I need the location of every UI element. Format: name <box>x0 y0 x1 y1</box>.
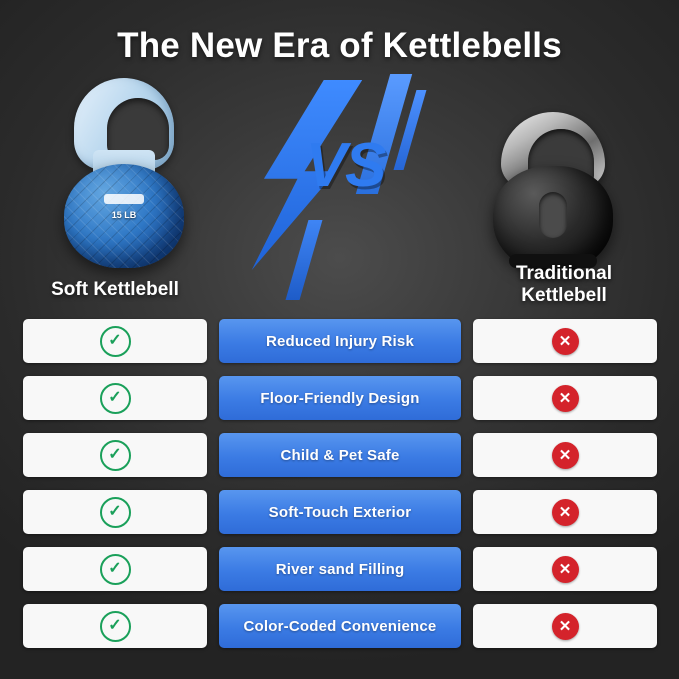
traditional-cell: ✕ <box>473 490 657 534</box>
cross-icon: ✕ <box>552 442 579 469</box>
table-row: ✓ River sand Filling ✕ <box>23 547 657 591</box>
traditional-kettlebell-image <box>493 112 613 272</box>
table-row: ✓ Child & Pet Safe ✕ <box>23 433 657 477</box>
right-column-caption-line1: Traditional <box>458 263 670 285</box>
feature-label: Child & Pet Safe <box>219 433 461 477</box>
check-icon: ✓ <box>100 383 131 414</box>
soft-kettlebell-image: 15 LB <box>60 78 190 268</box>
left-column-caption: Soft Kettlebell <box>9 279 221 301</box>
soft-cell: ✓ <box>23 319 207 363</box>
right-column-caption: Traditional Kettlebell <box>458 263 670 307</box>
traditional-cell: ✕ <box>473 604 657 648</box>
feature-label: River sand Filling <box>219 547 461 591</box>
check-icon: ✓ <box>100 554 131 585</box>
check-icon: ✓ <box>100 326 131 357</box>
soft-kettlebell-body: 15 LB <box>64 164 184 268</box>
soft-cell: ✓ <box>23 433 207 477</box>
cross-icon: ✕ <box>552 613 579 640</box>
soft-cell: ✓ <box>23 547 207 591</box>
cross-icon: ✕ <box>552 328 579 355</box>
feature-label: Color-Coded Convenience <box>219 604 461 648</box>
table-row: ✓ Reduced Injury Risk ✕ <box>23 319 657 363</box>
traditional-cell: ✕ <box>473 376 657 420</box>
feature-label: Soft-Touch Exterior <box>219 490 461 534</box>
check-icon: ✓ <box>100 440 131 471</box>
check-icon: ✓ <box>100 497 131 528</box>
feature-label: Floor-Friendly Design <box>219 376 461 420</box>
cross-icon: ✕ <box>552 385 579 412</box>
table-row: ✓ Color-Coded Convenience ✕ <box>23 604 657 648</box>
right-column-caption-line2: Kettlebell <box>458 285 670 307</box>
soft-cell: ✓ <box>23 376 207 420</box>
brand-logo <box>104 194 144 204</box>
cross-icon: ✕ <box>552 556 579 583</box>
traditional-kettlebell-window <box>539 192 567 238</box>
check-icon: ✓ <box>100 611 131 642</box>
cross-icon: ✕ <box>552 499 579 526</box>
page-title: The New Era of Kettlebells <box>0 26 679 66</box>
soft-cell: ✓ <box>23 490 207 534</box>
vs-label: VS <box>255 130 435 201</box>
table-row: ✓ Floor-Friendly Design ✕ <box>23 376 657 420</box>
feature-label: Reduced Injury Risk <box>219 319 461 363</box>
soft-cell: ✓ <box>23 604 207 648</box>
lightning-tail-icon <box>286 220 323 300</box>
weight-label: 15 LB <box>100 210 148 220</box>
comparison-table: ✓ Reduced Injury Risk ✕ ✓ Floor-Friendly… <box>23 319 657 661</box>
traditional-cell: ✕ <box>473 319 657 363</box>
infographic-canvas: The New Era of Kettlebells 15 LB VS <box>0 0 679 679</box>
traditional-cell: ✕ <box>473 433 657 477</box>
vs-badge: VS <box>255 70 435 300</box>
traditional-cell: ✕ <box>473 547 657 591</box>
table-row: ✓ Soft-Touch Exterior ✕ <box>23 490 657 534</box>
